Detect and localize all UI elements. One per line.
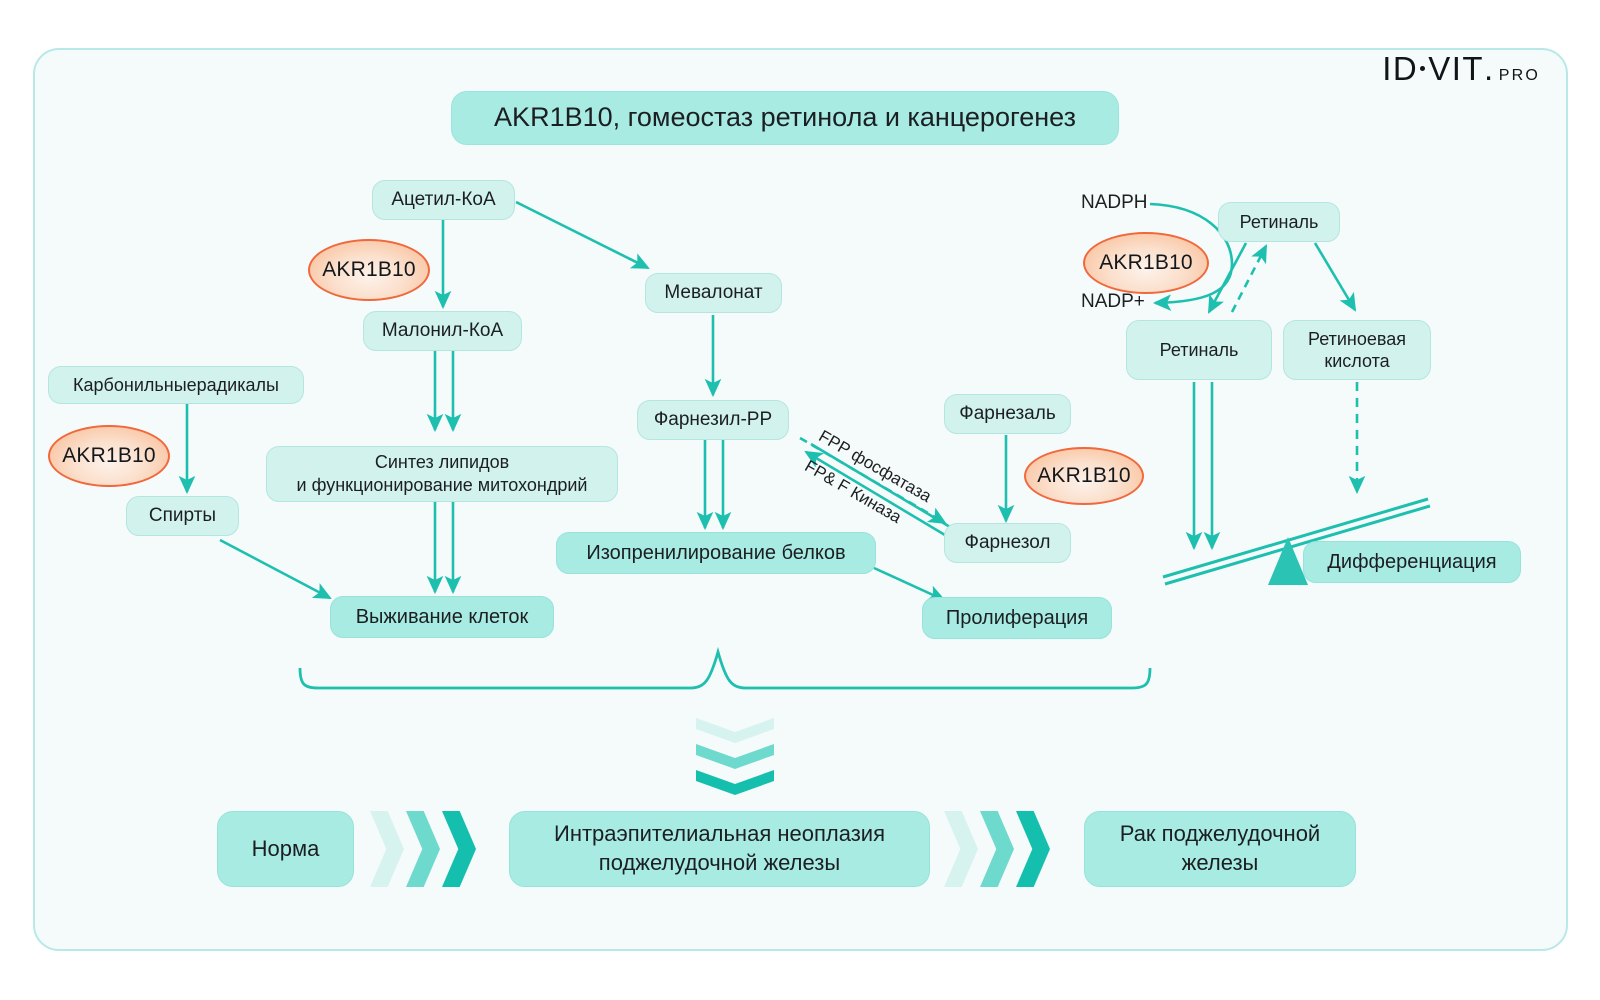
diagram-title: AKR1B10, гомеостаз ретинола и канцероген… [451, 91, 1119, 145]
logo-dot-icon [1420, 66, 1425, 71]
node-retinoic-acid[interactable]: Ретиноевая кислота [1283, 320, 1431, 380]
node-alcohols[interactable]: Спирты [126, 496, 239, 536]
down-chevron-icon-3 [696, 770, 774, 795]
logo-period-icon: . [1484, 50, 1495, 88]
idvit-logo: IDVIT.PRO [1382, 50, 1540, 88]
chevron-icon-2b [980, 811, 1014, 887]
retinoic-acid-line-2: кислота [1324, 350, 1389, 373]
progression-arrow-2 [944, 811, 1050, 887]
progression-step-panin[interactable]: Интраэпителиальная неоплазия поджелудочн… [509, 811, 930, 887]
seesaw-fulcrum-icon [1268, 537, 1308, 585]
chevron-icon-1a [370, 811, 404, 887]
chevron-icon-1b [406, 811, 440, 887]
logo-text-id: ID [1382, 50, 1418, 88]
enzyme-akr1b10-malonyl[interactable]: AKR1B10 [308, 239, 430, 301]
logo-text-vit: VIT [1428, 50, 1484, 88]
down-chevron-icon-1 [696, 718, 774, 743]
aggregation-chevrons [696, 718, 774, 795]
node-lipid-synthesis[interactable]: Синтез липидов и функционирование митохо… [266, 446, 618, 502]
progression-step-normal[interactable]: Норма [217, 811, 354, 887]
node-acetyl-coa[interactable]: Ацетил-КоА [372, 180, 515, 220]
cancer-line-1: Рак поджелудочной [1120, 820, 1320, 849]
chevron-icon-2c [1016, 811, 1050, 887]
label-nadph: NADPH [1081, 192, 1148, 214]
progression-step-cancer[interactable]: Рак поджелудочной железы [1084, 811, 1356, 887]
node-farnesyl-pp[interactable]: Фарнезил-PP [637, 400, 789, 440]
node-retinal-bottom[interactable]: Ретиналь [1126, 320, 1272, 380]
node-mevalonate[interactable]: Мевалонат [645, 273, 782, 313]
chevron-icon-2a [944, 811, 978, 887]
lipid-synthesis-line-2: и функционирование митохондрий [297, 474, 588, 497]
node-retinal-top[interactable]: Ретиналь [1218, 202, 1340, 242]
node-farnesal[interactable]: Фарнезаль [944, 394, 1071, 434]
node-carbonyl-radicals[interactable]: Карбонильныерадикалы [48, 366, 304, 404]
cancer-line-2: железы [1182, 849, 1259, 878]
label-nadp-plus: NADP+ [1081, 291, 1145, 313]
node-differentiation[interactable]: Дифференциация [1303, 541, 1521, 583]
enzyme-akr1b10-alcohols[interactable]: AKR1B10 [48, 425, 170, 487]
node-protein-isoprenylation[interactable]: Изопренилирование белков [556, 532, 876, 574]
node-proliferation[interactable]: Пролиферация [922, 597, 1112, 639]
enzyme-akr1b10-farnesol[interactable]: AKR1B10 [1024, 447, 1144, 505]
logo-text-pro: PRO [1499, 67, 1540, 85]
chevron-icon-1c [442, 811, 476, 887]
retinoic-acid-line-1: Ретиноевая [1308, 328, 1406, 351]
node-cell-survival[interactable]: Выживание клеток [330, 596, 554, 638]
down-chevron-icon-2 [696, 744, 774, 769]
lipid-synthesis-line-1: Синтез липидов [375, 451, 509, 474]
panin-line-1: Интраэпителиальная неоплазия [554, 820, 885, 849]
progression-arrow-1 [370, 811, 476, 887]
node-farnesol[interactable]: Фарнезол [944, 523, 1071, 563]
diagram-canvas: IDVIT.PRO [0, 0, 1600, 1000]
panin-line-2: поджелудочной железы [599, 849, 840, 878]
node-malonyl-coa[interactable]: Малонил-КоА [363, 311, 522, 351]
enzyme-akr1b10-retinal[interactable]: AKR1B10 [1083, 232, 1209, 294]
